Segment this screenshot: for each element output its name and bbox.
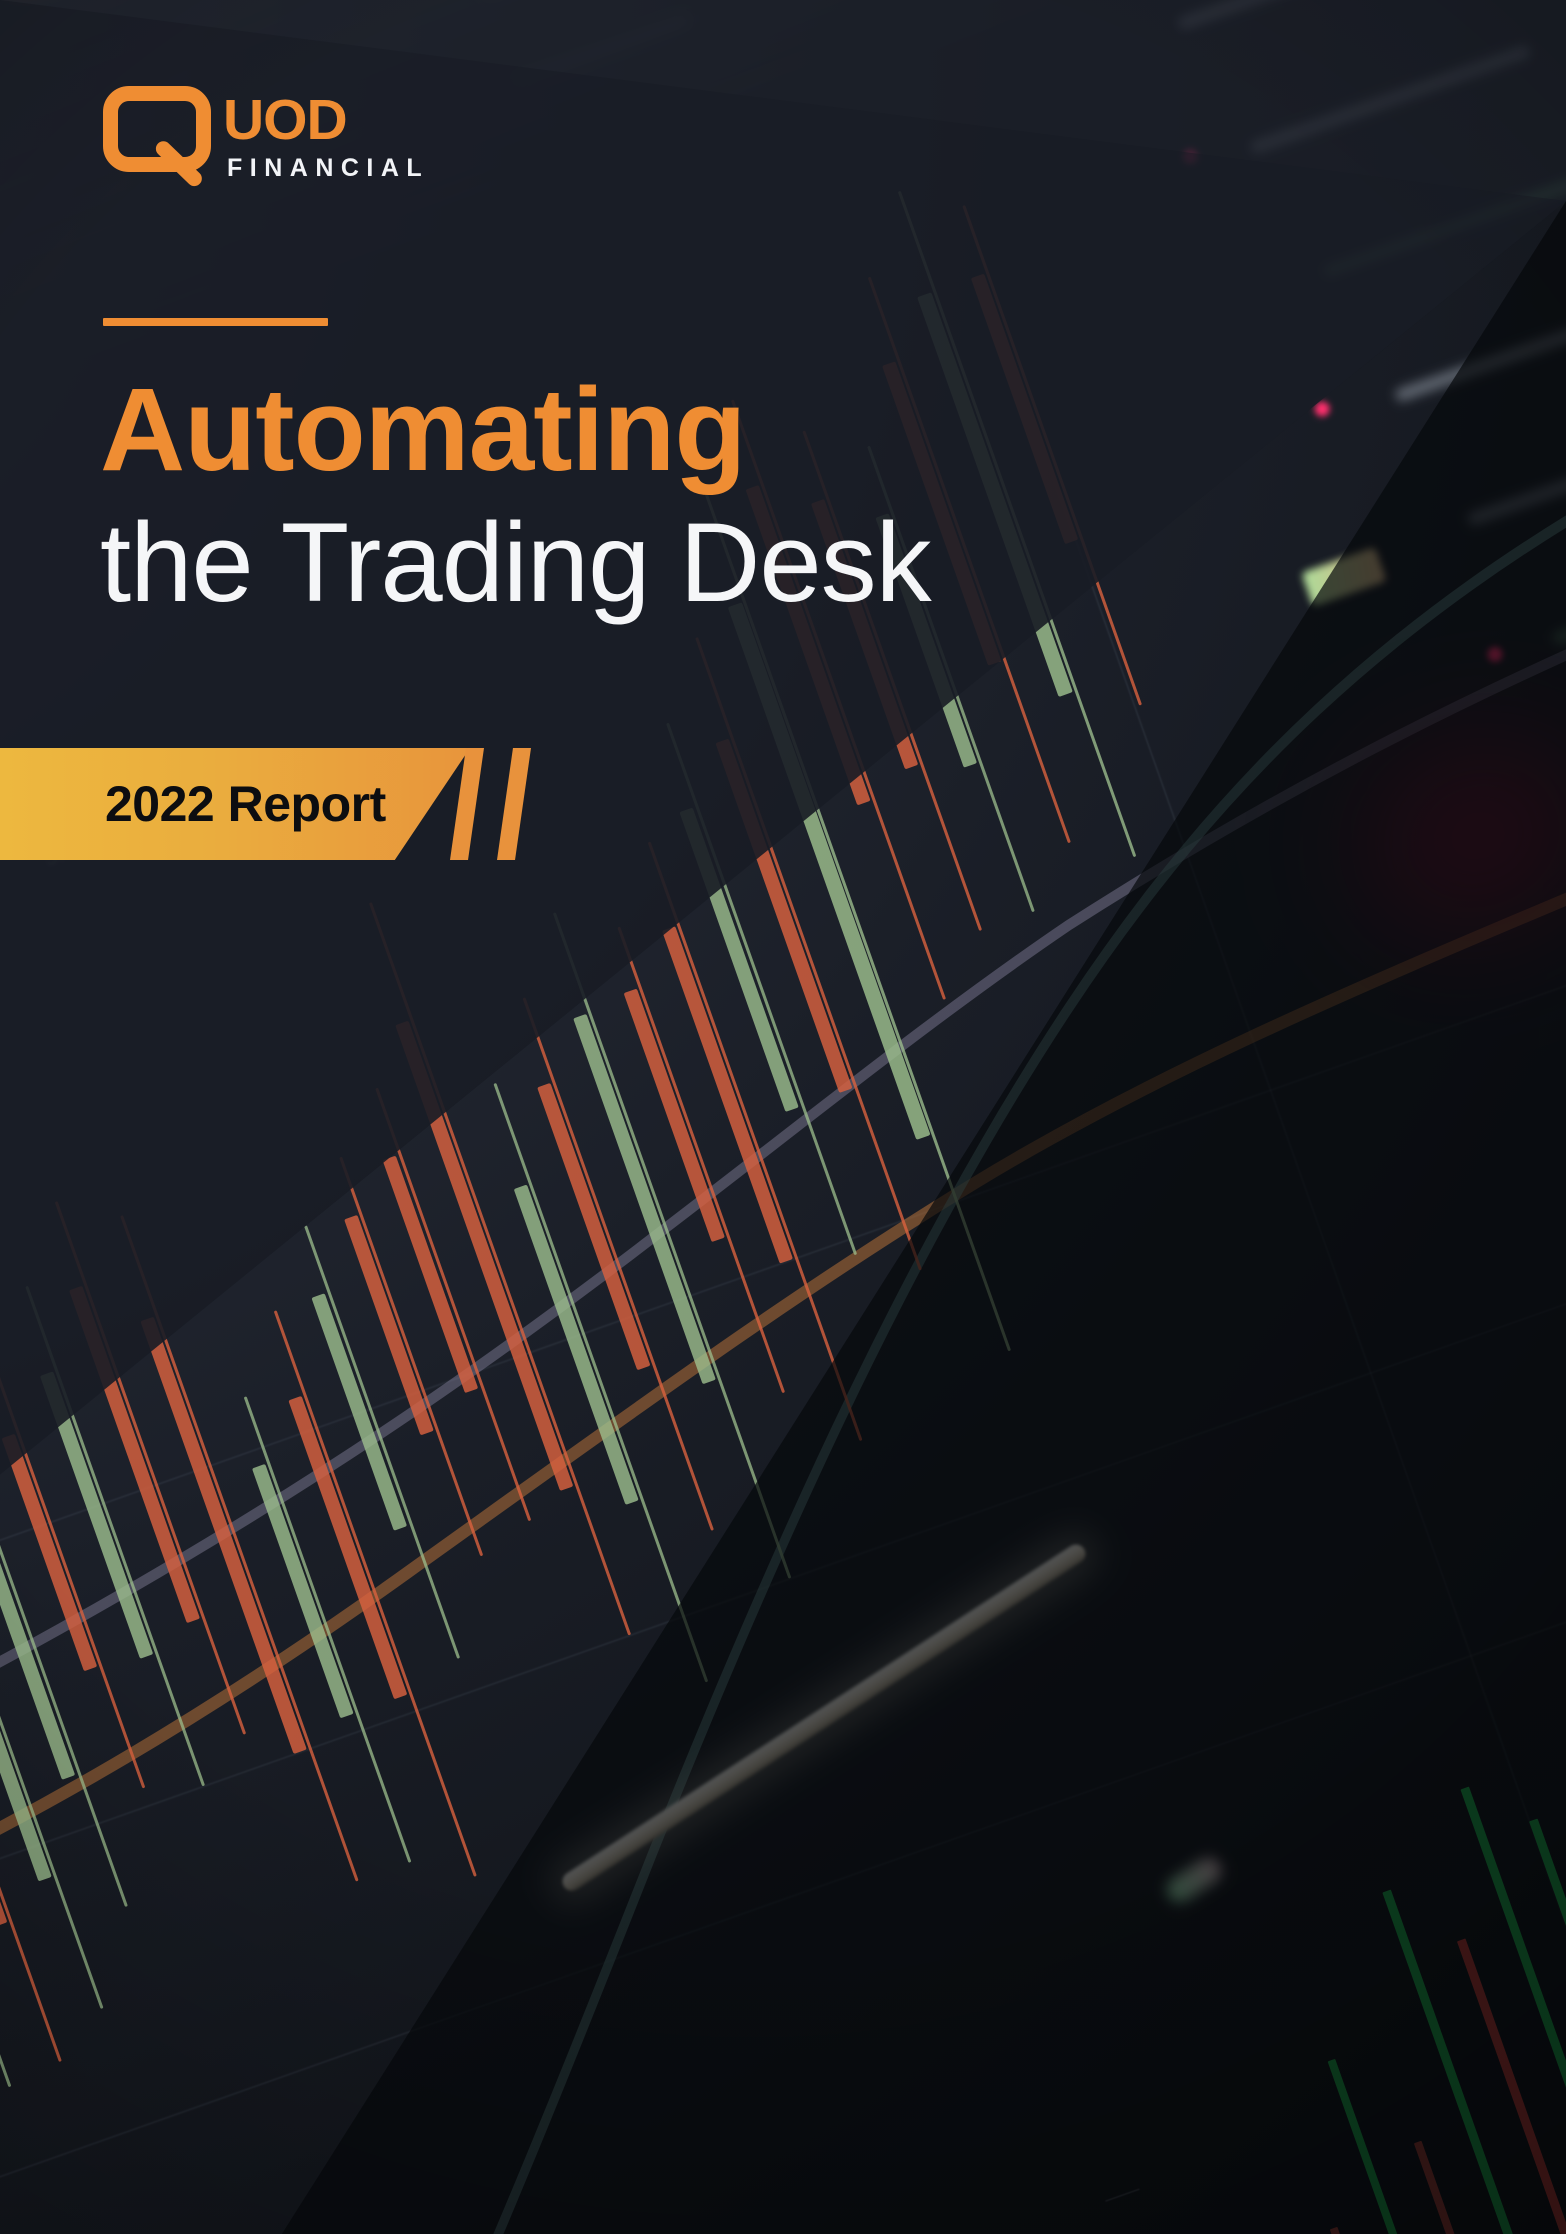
page-title-line-2: the Trading Desk xyxy=(100,504,1260,623)
logo-wordmark-financial: FINANCIAL xyxy=(227,156,429,181)
report-badge-label: 2022 Report xyxy=(105,748,386,860)
title-divider-rule xyxy=(103,318,328,326)
cover-content: UOD FINANCIAL Automating the Trading Des… xyxy=(0,0,1566,2234)
report-badge: 2022 Report xyxy=(0,748,560,860)
page-title-line-1: Automating xyxy=(100,370,1260,490)
badge-slash-icon xyxy=(497,748,531,860)
quod-q-mark-icon xyxy=(103,86,211,183)
q-rounded-square-icon xyxy=(103,86,211,172)
report-cover-page: A(25): 4.586 MA(99): High: 4.810 Low: 5.… xyxy=(0,0,1566,2234)
logo-wordmark-uod: UOD xyxy=(223,92,347,149)
cover-title-block: Automating the Trading Desk xyxy=(100,370,1260,623)
quod-financial-logo[interactable]: UOD FINANCIAL xyxy=(103,86,443,204)
